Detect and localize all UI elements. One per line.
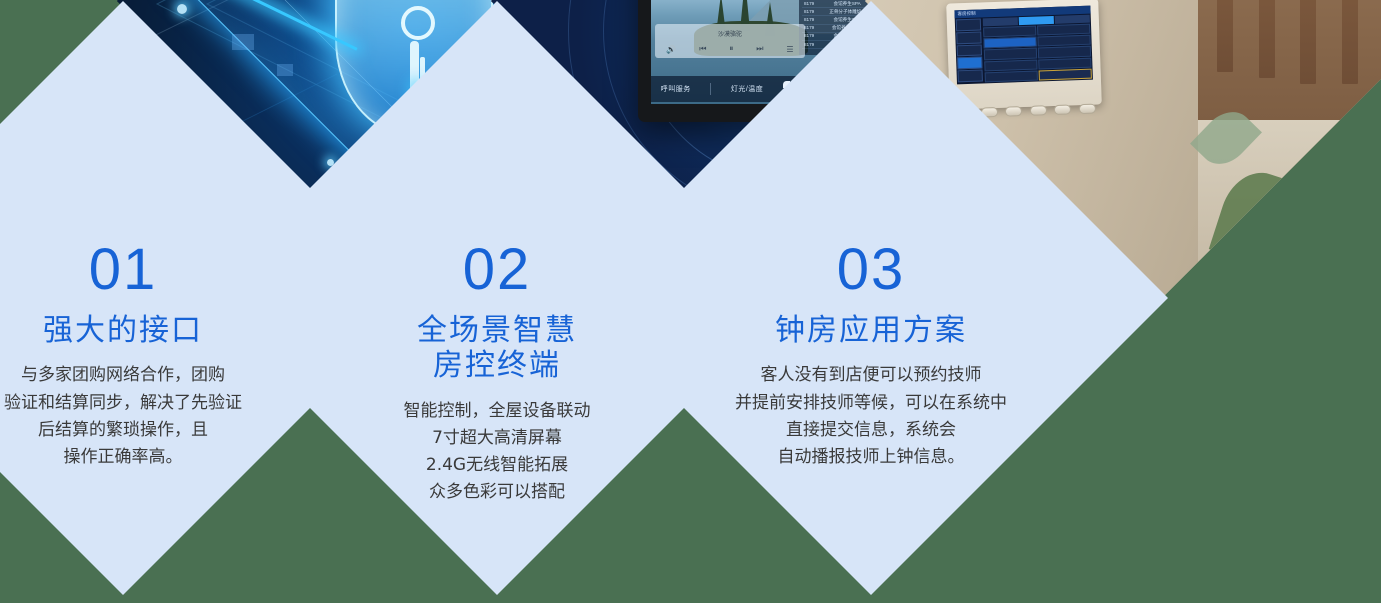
playlist-icon[interactable]: ☰	[786, 45, 793, 54]
feature-description-01: 与多家团购网络合作，团购 验证和结算同步，解决了先验证 后结算的繁琐操作，且 操…	[4, 362, 242, 471]
divider	[710, 83, 711, 95]
volume-icon[interactable]: 🔊	[666, 45, 676, 54]
light-temperature-button[interactable]: 灯光/温度	[731, 84, 763, 94]
feature-description-02: 智能控制，全屋设备联动 7寸超大高清屏幕 2.4G无线智能拓展 众多色彩可以搭配	[404, 398, 591, 507]
feature-number-03: 03	[837, 241, 906, 299]
next-icon[interactable]: ⏭	[756, 44, 763, 54]
media-player-bar[interactable]: 沙漠骆驼 🔊 ⏮ ⏸ ⏭ ☰	[655, 24, 805, 58]
feature-number-02: 02	[463, 241, 532, 299]
control-panel-list-left[interactable]	[983, 26, 1038, 83]
previous-icon[interactable]: ⏮	[699, 44, 706, 54]
feature-number-01: 01	[89, 241, 158, 299]
control-panel-screen[interactable]: 客房控制	[955, 6, 1093, 85]
feature-description-03: 客人没有到店便可以预约技师 并提前安排技师等候，可以在系统中 直接提交信息，系统…	[735, 362, 1007, 471]
control-panel-list-right[interactable]	[1037, 24, 1092, 81]
control-panel-side-menu[interactable]	[955, 17, 984, 84]
call-service-button[interactable]: 呼叫服务	[661, 84, 691, 94]
feature-heading-01: 强大的接口	[43, 313, 203, 348]
wall-control-panel[interactable]: 客房控制	[946, 0, 1102, 110]
feature-heading-02: 全场景智慧 房控终端	[417, 313, 577, 384]
play-icon[interactable]: ⏸	[729, 44, 733, 54]
showcase-stage: CS1280 22:35 SPA	[0, 0, 1381, 603]
feature-heading-03: 钟房应用方案	[775, 313, 967, 348]
media-title: 沙漠骆驼	[655, 29, 805, 38]
